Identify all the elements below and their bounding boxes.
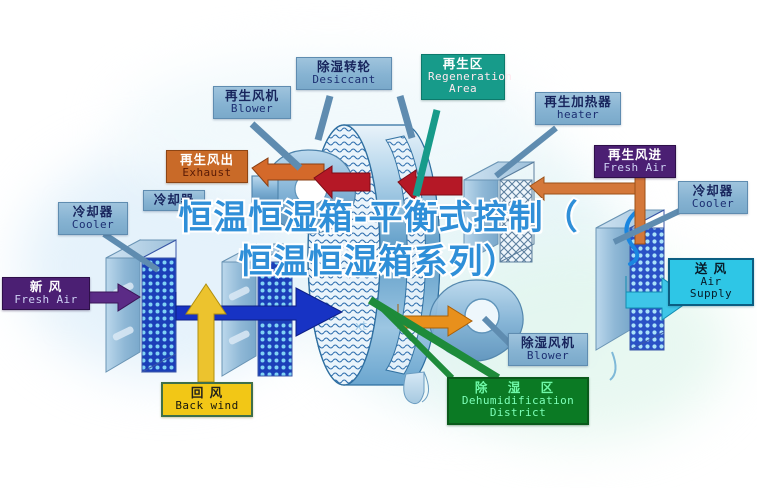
label-dehumidification-district-cn: 除 湿 区 [455,381,581,395]
label-cooler-left-cn: 冷却器 [65,205,121,219]
label-regeneration-heater-cn: 再生加热器 [542,95,614,109]
label-fresh-air-inlet: 新 风Fresh Air [2,277,90,310]
label-cooler-mid-hidden: 冷却器 [143,190,205,211]
label-desiccant-wheel: 除湿转轮Desiccant [296,57,392,90]
label-regeneration-area-en: Regeneration Area [428,71,498,96]
label-back-wind: 回 风Back wind [161,382,253,417]
label-regeneration-blower-en: Blower [220,103,284,115]
label-cooler-left-en: Cooler [65,219,121,231]
label-cooler-right-en: Cooler [685,198,741,210]
label-fresh-air-regeneration-inlet-en: Fresh Air [601,162,669,174]
label-regeneration-area-cn: 再生区 [428,57,498,71]
label-regeneration-heater-en: heater [542,109,614,121]
label-cooler-right-cn: 冷却器 [685,184,741,198]
label-regeneration-blower: 再生风机Blower [213,86,291,119]
label-fresh-air-regeneration-inlet-cn: 再生风进 [601,148,669,162]
leader-desiccant-2 [400,96,412,138]
label-regeneration-heater: 再生加热器heater [535,92,621,125]
diagram-canvas: xt [0,0,757,488]
leader-regen-area [416,110,437,196]
leader-desiccant [318,96,330,140]
label-back-wind-en: Back wind [169,400,245,412]
label-regeneration-blower-cn: 再生风机 [220,89,284,103]
label-desiccant-wheel-cn: 除湿转轮 [303,60,385,74]
leader-cooler-left [104,234,158,270]
label-desiccant-wheel-en: Desiccant [303,74,385,86]
label-cooler-mid-hidden-cn: 冷却器 [150,193,198,207]
leader-regen-blower [252,124,300,168]
label-air-supply-en: Air Supply [676,276,746,301]
label-cooler-left: 冷却器Cooler [58,202,128,235]
label-regeneration-area: 再生区Regeneration Area [421,54,505,100]
label-back-wind-cn: 回 风 [169,386,245,400]
label-fresh-air-inlet-en: Fresh Air [9,294,83,306]
label-air-supply: 送 风Air Supply [668,258,754,306]
label-cooler-right: 冷却器Cooler [678,181,748,214]
label-dehumidification-district-en: Dehumidification District [455,395,581,420]
label-exhaust: 再生风出Exhaust [166,150,248,183]
leader-heater [496,128,556,176]
label-dehumidification-district: 除 湿 区Dehumidification District [447,377,589,425]
label-dehumidification-blower-en: Blower [515,350,581,362]
label-dehumidification-blower: 除湿风机Blower [508,333,588,366]
label-dehumidification-blower-cn: 除湿风机 [515,336,581,350]
label-air-supply-cn: 送 风 [676,262,746,276]
label-fresh-air-inlet-cn: 新 风 [9,280,83,294]
label-exhaust-en: Exhaust [173,167,241,179]
label-exhaust-cn: 再生风出 [173,153,241,167]
label-fresh-air-regeneration-inlet: 再生风进Fresh Air [594,145,676,178]
